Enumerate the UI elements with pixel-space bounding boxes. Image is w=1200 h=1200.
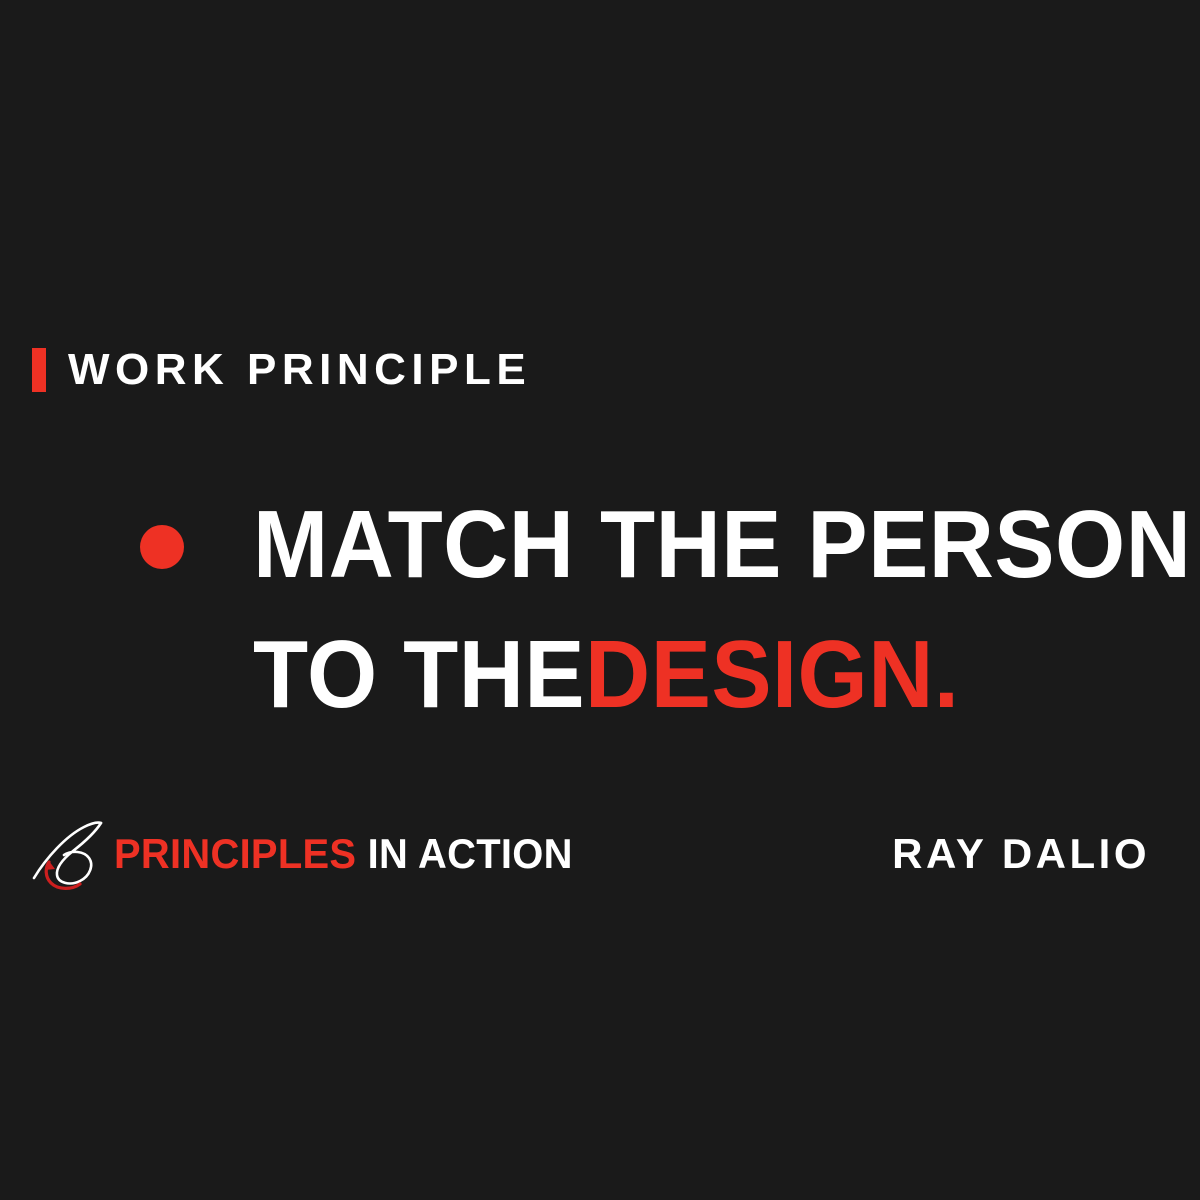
footer: PRINCIPLES IN ACTION RAY DALIO (0, 818, 1200, 890)
kicker-accent-bar (32, 348, 46, 392)
kicker: WORK PRINCIPLE (32, 344, 531, 396)
author-name: RAY DALIO (892, 818, 1150, 890)
quote-line-1: MATCH THE PERSON (0, 480, 1200, 610)
quote-card: WORK PRINCIPLE MATCH THE PERSON TO THE D… (0, 0, 1200, 1200)
brand-name-in-action-text: IN ACTION (368, 830, 573, 877)
quote-line-1-text: MATCH THE PERSON (253, 480, 1191, 610)
brand-name-principles: PRINCIPLES (114, 830, 356, 877)
quote-line-2-white: TO THE (253, 627, 585, 723)
quote-line-2: TO THE DESIGN. (0, 610, 1200, 740)
quote-line-2-text: TO THE DESIGN. (253, 610, 959, 740)
kicker-label: WORK PRINCIPLE (68, 348, 531, 392)
brand-name-in-action (356, 830, 367, 877)
bullet-point-icon (140, 525, 184, 569)
brand-wordmark: PRINCIPLES IN ACTION (114, 833, 573, 875)
quote-line-1-white: MATCH THE PERSON (253, 497, 1191, 593)
quote-line-2-accent: DESIGN. (585, 627, 959, 723)
brand-lockup: PRINCIPLES IN ACTION (32, 818, 597, 890)
quote-block: MATCH THE PERSON TO THE DESIGN. (0, 480, 1200, 740)
principles-swirl-logo-icon (32, 818, 110, 890)
